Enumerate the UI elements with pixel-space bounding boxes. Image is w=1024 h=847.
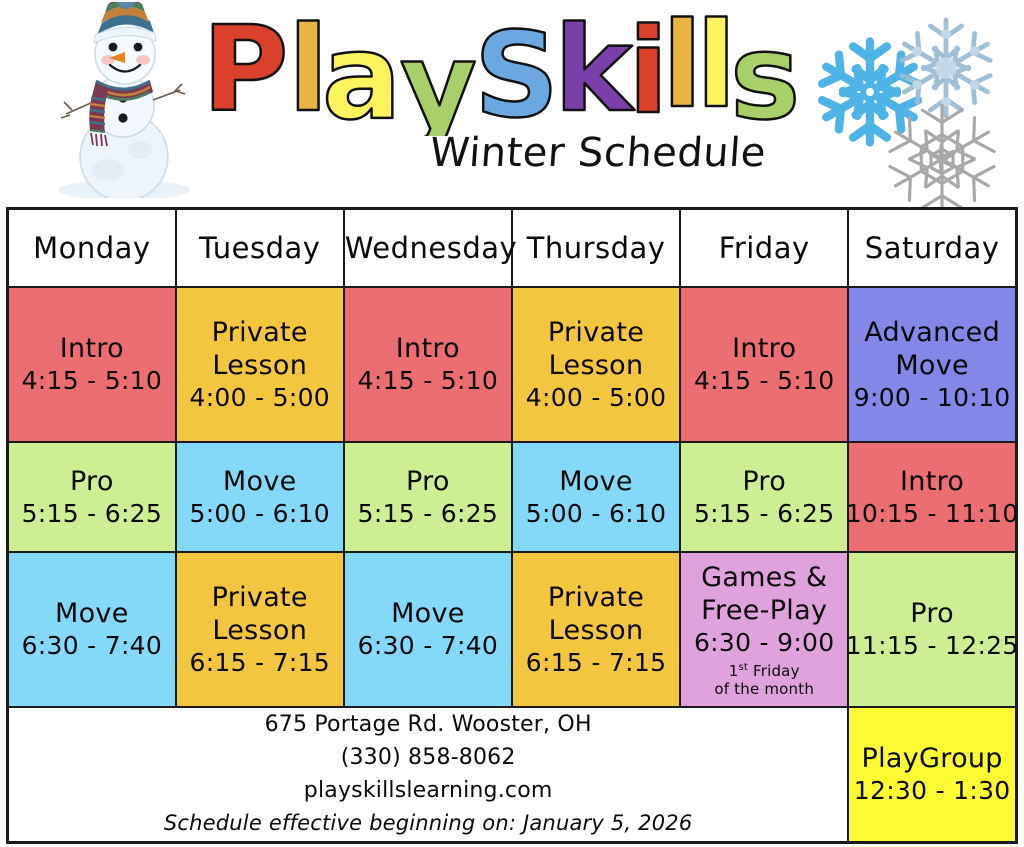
svg-text:k: k: [554, 6, 635, 136]
class-cell-saturday-1[interactable]: Advanced Move 9:00 - 10:10: [848, 287, 1016, 442]
class-cell-wednesday-1[interactable]: Intro 4:15 - 5:10: [344, 287, 512, 442]
class-title: PlayGroup: [862, 742, 1003, 775]
table-row: Intro 4:15 - 5:10 Private Lesson 4:00 - …: [8, 287, 1017, 442]
column-header-thursday: Thursday: [512, 209, 680, 288]
address-line: 675 Portage Rd. Wooster, OH: [9, 708, 847, 741]
class-time: 4:00 - 5:00: [526, 382, 667, 414]
class-title: Move: [391, 597, 465, 630]
class-title: Intro: [900, 465, 964, 498]
column-header-friday: Friday: [680, 209, 848, 288]
playskills-logo: P l a y S k i l l s: [196, 6, 836, 136]
schedule-flyer: P l a y S k i l l s Winter Schedule: [0, 0, 1024, 847]
website-line[interactable]: playskillslearning.com: [9, 774, 847, 807]
class-cell-thursday-3[interactable]: Private Lesson 6:15 - 7:15: [512, 552, 680, 707]
banner-subtitle-wrap: Winter Schedule: [430, 128, 850, 184]
class-time: 6:30 - 7:40: [22, 630, 163, 662]
column-header-monday: Monday: [8, 209, 176, 288]
class-title: Pro: [910, 597, 954, 630]
table-row: Move 6:30 - 7:40 Private Lesson 6:15 - 7…: [8, 552, 1017, 707]
class-note: 1st Fridayof the month: [714, 659, 814, 698]
class-cell-thursday-2[interactable]: Move 5:00 - 6:10: [512, 442, 680, 552]
class-time: 10:15 - 11:10: [846, 498, 1019, 530]
svg-text:s: s: [730, 8, 800, 136]
class-title: Intro: [732, 332, 796, 365]
class-cell-wednesday-3[interactable]: Move 6:30 - 7:40: [344, 552, 512, 707]
class-time: 5:00 - 6:10: [189, 498, 330, 530]
phone-line: (330) 858-8062: [9, 741, 847, 774]
class-time: 4:15 - 5:10: [694, 365, 835, 397]
class-time: 6:15 - 7:15: [526, 647, 667, 679]
class-title: Games & Free-Play: [683, 561, 845, 627]
class-cell-friday-3[interactable]: Games & Free-Play 6:30 - 9:00 1st Friday…: [680, 552, 848, 707]
class-time: 12:30 - 1:30: [854, 775, 1011, 807]
snowflake-gray-icon: [880, 98, 1004, 220]
class-title: Private Lesson: [179, 581, 341, 647]
class-title: Intro: [60, 332, 124, 365]
class-title: Move: [559, 465, 633, 498]
class-time: 5:00 - 6:10: [526, 498, 667, 530]
table-header-row: Monday Tuesday Wednesday Thursday Friday…: [8, 209, 1017, 288]
svg-text:P: P: [202, 6, 288, 136]
class-time: 9:00 - 10:10: [854, 382, 1011, 414]
class-time: 6:30 - 9:00: [694, 627, 835, 659]
class-title: Pro: [406, 465, 450, 498]
class-cell-saturday-3[interactable]: Pro 11:15 - 12:25: [848, 552, 1016, 707]
class-title: Move: [223, 465, 297, 498]
banner-subtitle: Winter Schedule: [428, 128, 851, 178]
snowman-illustration: [52, 2, 202, 198]
class-cell-monday-1[interactable]: Intro 4:15 - 5:10: [8, 287, 176, 442]
class-time: 5:15 - 6:25: [22, 498, 163, 530]
svg-text:S: S: [474, 6, 559, 136]
class-time: 4:00 - 5:00: [189, 382, 330, 414]
class-cell-monday-2[interactable]: Pro 5:15 - 6:25: [8, 442, 176, 552]
class-cell-thursday-1[interactable]: Private Lesson 4:00 - 5:00: [512, 287, 680, 442]
column-header-saturday: Saturday: [848, 209, 1016, 288]
class-time: 4:15 - 5:10: [22, 365, 163, 397]
class-time: 5:15 - 6:25: [358, 498, 499, 530]
class-title: Move: [55, 597, 129, 630]
contact-info-block: 675 Portage Rd. Wooster, OH (330) 858-80…: [8, 707, 849, 842]
class-cell-tuesday-3[interactable]: Private Lesson 6:15 - 7:15: [176, 552, 344, 707]
svg-text:y: y: [400, 16, 477, 136]
class-title: Pro: [742, 465, 786, 498]
schedule-table: Monday Tuesday Wednesday Thursday Friday…: [6, 207, 1018, 844]
effective-date-line: Schedule effective beginning on: January…: [9, 807, 847, 840]
class-time: 6:30 - 7:40: [358, 630, 499, 662]
class-title: Advanced Move: [851, 316, 1013, 382]
class-title: Private Lesson: [515, 316, 677, 382]
table-row: Pro 5:15 - 6:25 Move 5:00 - 6:10 Pro 5:1…: [8, 442, 1017, 552]
column-header-wednesday: Wednesday: [344, 209, 512, 288]
class-cell-tuesday-1[interactable]: Private Lesson 4:00 - 5:00: [176, 287, 344, 442]
class-title: Private Lesson: [179, 316, 341, 382]
class-cell-friday-2[interactable]: Pro 5:15 - 6:25: [680, 442, 848, 552]
class-cell-tuesday-2[interactable]: Move 5:00 - 6:10: [176, 442, 344, 552]
class-cell-friday-1[interactable]: Intro 4:15 - 5:10: [680, 287, 848, 442]
class-cell-saturday-2[interactable]: Intro 10:15 - 11:10: [848, 442, 1016, 552]
class-title: Intro: [396, 332, 460, 365]
class-time: 5:15 - 6:25: [694, 498, 835, 530]
class-cell-monday-3[interactable]: Move 6:30 - 7:40: [8, 552, 176, 707]
class-cell-wednesday-2[interactable]: Pro 5:15 - 6:25: [344, 442, 512, 552]
column-header-tuesday: Tuesday: [176, 209, 344, 288]
class-time: 11:15 - 12:25: [846, 630, 1019, 662]
class-time: 4:15 - 5:10: [358, 365, 499, 397]
footer-row: 675 Portage Rd. Wooster, OH (330) 858-80…: [8, 707, 1017, 842]
class-title: Private Lesson: [515, 581, 677, 647]
svg-text:a: a: [322, 8, 402, 136]
class-time: 6:15 - 7:15: [189, 647, 330, 679]
class-cell-saturday-playgroup[interactable]: PlayGroup 12:30 - 1:30: [848, 707, 1016, 842]
banner-header: P l a y S k i l l s Winter Schedule: [0, 0, 1024, 208]
class-title: Pro: [70, 465, 114, 498]
